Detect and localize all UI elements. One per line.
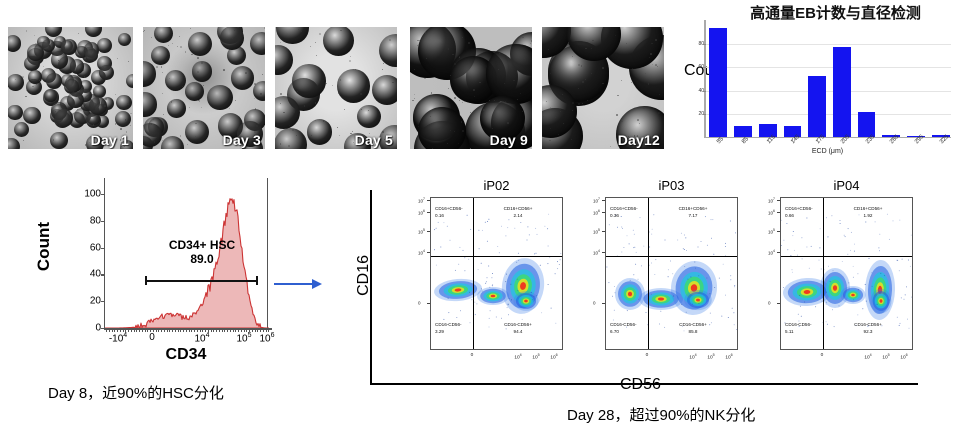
nk-event-dot [879,234,880,235]
nk-event-dot [537,234,538,235]
histogram-minor-tick [158,329,159,332]
nk-event-dot [487,221,488,222]
nk-flow-plot: CD16+CD56-0.36CD16+CD56+7.17CD16-CD56-6.… [605,197,738,350]
histogram-minor-tick [219,329,220,332]
microscopy-speck [655,39,657,41]
histogram-minor-tick [106,329,107,332]
microscopy-spheroid [126,74,133,88]
nk-y-tick-mark [777,200,780,201]
histogram-minor-tick [260,329,261,332]
nk-event-dot [734,285,735,286]
histogram-y-tick-label: 40 [90,269,101,280]
nk-event-dot [541,312,542,313]
bar-chart-gridline [706,91,951,92]
nk-event-dot [448,298,449,299]
nk-event-dot [507,307,508,308]
nk-event-dot [633,274,634,275]
microscopy-speck [301,31,302,32]
microscopy-speck [144,30,145,31]
microscopy-spheroid [99,65,114,80]
nk-event-dot [871,272,872,273]
histogram-x-tick-label: 104 [194,332,209,344]
nk-x-tick-label: 104 [864,353,871,361]
microscopy-speck [340,30,342,32]
nk-quadrant-bottom-left: CD16-CD56-6.70 [610,322,637,335]
microscopy-speck [499,53,500,54]
microscopy-speck [643,107,645,109]
nk-event-dot [714,287,715,288]
microscopy-speck [254,98,255,99]
microscopy-speck [168,45,169,46]
nk-y-tick-mark [602,231,605,232]
histogram-minor-tick [238,329,239,332]
nk-y-tick-label: 0 [768,301,771,306]
nk-panel-title: iP02 [430,178,563,193]
microscopy-speck [587,100,588,101]
bar-chart-gridline [706,44,951,45]
nk-event-dot [606,267,607,268]
microscopy-speck [383,63,384,64]
nk-event-dot [699,301,700,302]
nk-event-dot [840,220,841,221]
nk-event-dot [851,232,852,233]
nk-event-dot [491,277,492,278]
nk-event-dot [865,222,866,223]
nk-event-dot [455,270,456,271]
microscopy-spheroid [151,46,170,65]
nk-event-dot [447,226,448,227]
nk-event-dot [507,227,508,228]
nk-y-tick-mark [427,231,430,232]
microscopy-speck [30,91,32,93]
nk-event-dot [629,243,630,244]
bar-chart-gridline [706,114,951,115]
microscopy-day-label: Day 3 [223,132,261,148]
nk-event-dot [555,273,556,274]
nk-quadrant-value: 0.36 [610,213,638,220]
nk-event-dot [815,306,816,307]
histogram-y-tick-label: 80 [90,215,101,226]
nk-event-dot [730,275,731,276]
nk-event-dot [713,254,714,255]
nk-event-dot [534,296,535,297]
histogram-minor-tick [255,329,256,332]
nk-event-dot [681,304,682,305]
nk-y-tick-mark [427,303,430,304]
nk-event-dot [840,223,841,224]
microscopy-speck [264,27,265,29]
nk-event-dot [911,297,912,298]
microscopy-spheroid [115,111,132,128]
nk-y-tick-label: 104 [768,249,775,256]
nk-event-dot [728,317,729,318]
microscopy-spheroid [250,32,265,55]
microscopy-speck [201,107,203,109]
microscopy-speck [339,135,340,136]
bar-chart-x-tick-mark [817,138,818,141]
nk-event-dot [487,277,488,278]
nk-event-dot [634,234,635,235]
nk-event-dot [468,259,469,260]
microscopy-panel: Day12 [542,27,664,149]
nk-event-dot [547,228,548,229]
nk-event-dot [734,286,735,287]
microscopy-speck [197,71,199,73]
nk-event-dot [518,260,519,261]
nk-event-dot [819,247,820,248]
nk-event-dot [710,313,711,314]
microscopy-speck [631,82,632,83]
nk-quadrant-label: CD16-CD56- [435,322,462,329]
nk-quadrant-value: 5.11 [785,329,812,336]
nk-event-dot [460,289,461,290]
histogram-minor-tick [150,329,151,332]
bar-chart-x-tick-mark [867,138,868,141]
microscopy-speck [531,40,532,42]
microscopy-speck [659,94,660,95]
microscopy-speck [229,108,231,110]
microscopy-speck [332,85,333,86]
microscopy-speck [172,34,173,35]
histogram-gate-cap-left [145,276,147,285]
nk-quadrant-value: 1.92 [825,213,911,220]
nk-event-dot [684,266,685,267]
nk-event-dot [621,252,622,253]
nk-x-tick-label: 104 [689,353,696,361]
nk-event-dot [443,319,444,320]
nk-event-dot [723,264,724,265]
microscopy-speck [468,42,469,43]
microscopy-speck [548,49,549,50]
microscopy-speck [115,94,116,95]
microscopy-speck [562,94,563,95]
microscopy-speck [459,57,460,58]
histogram-minor-tick [227,329,228,332]
microscopy-panel: Day 9 [410,27,532,149]
nk-y-tick-mark [602,303,605,304]
nk-quadrant-top-left: CD16+CD56-0.16 [435,206,463,219]
nk-event-dot [654,274,655,275]
nk-event-dot [908,260,909,261]
histogram-y-tick-mark [101,221,105,222]
nk-event-dot [436,228,437,229]
microscopy-spheroid [185,82,204,101]
nk-event-dot [499,252,500,253]
microscopy-speck [454,131,455,132]
nk-event-dot [640,217,641,218]
nk-event-dot [633,247,634,248]
microscopy-spheroid [85,27,102,37]
microscopy-speck [190,28,191,29]
nk-event-dot [781,245,782,246]
histogram-minor-tick [202,329,203,332]
microscopy-speck [546,101,547,102]
nk-x-tick-label: 106 [550,353,557,361]
microscopy-panel: Day 3 [143,27,265,149]
microscopy-speck [412,100,414,102]
nk-y-axis-label: CD16 [355,255,373,296]
nk-quadrant-value: 7.17 [650,213,736,220]
histogram-x-axis-label: CD34 [104,346,268,364]
nk-event-dot [621,227,622,228]
histogram-minor-tick [200,329,201,332]
microscopy-spheroid [97,38,112,53]
histogram-gate-cap-right [256,276,258,285]
histogram-minor-tick [230,329,231,332]
microscopy-day-label: Day 9 [490,132,528,148]
microscopy-speck [448,88,449,89]
microscopy-day-label: Day12 [618,132,660,148]
nk-quadrant-label: CD16+CD56- [785,206,813,213]
nk-event-dot [481,263,482,264]
nk-event-dot [725,295,726,296]
microscopy-speck [26,30,27,31]
nk-event-dot [655,259,656,260]
histogram-minor-tick [249,329,250,332]
nk-event-dot [889,239,890,240]
histogram-minor-tick [186,329,187,332]
nk-event-dot [614,310,615,311]
nk-event-dot [508,304,509,305]
microscopy-speck [419,40,420,41]
microscopy-speck [52,80,53,81]
microscopy-speck [127,103,129,105]
nk-event-dot [463,250,464,251]
histogram-minor-tick [191,329,192,332]
microscopy-speck [254,83,256,85]
microscopy-speck [448,48,449,49]
nk-event-dot [854,251,855,252]
microscopy-speck [73,107,74,108]
nk-event-dot [897,317,898,318]
nk-event-dot [478,269,479,270]
nk-event-dot [438,222,439,223]
nk-event-dot [505,281,506,282]
microscopy-spheroid [23,107,41,125]
histogram-minor-tick [216,329,217,332]
histogram-minor-tick [197,329,198,332]
microscopy-day-label: Day 5 [355,132,393,148]
microscopy-speck [256,125,258,127]
microscopy-speck [585,79,586,80]
microscopy-speck [180,135,181,136]
nk-event-dot [692,304,693,305]
bar-chart-bar [709,28,727,137]
bar-chart-bar [734,126,752,137]
microscopy-speck [560,111,561,112]
nk-density-contour [524,300,528,303]
histogram-minor-tick [235,329,236,332]
microscopy-speck [189,107,190,108]
histogram-x-tick-label: 0 [149,332,155,343]
nk-event-dot [609,224,610,225]
microscopy-speck [489,100,490,101]
microscopy-speck [197,57,199,59]
histogram-minor-tick [266,329,267,332]
nk-quadrant-value: 0.66 [785,213,813,220]
histogram-gate-value: 89.0 [148,252,256,266]
microscopy-speck [507,103,508,104]
microscopy-field [275,27,397,149]
nk-event-dot [486,281,487,282]
nk-y-tick-mark [427,252,430,253]
bar-chart-x-tick-mark [743,138,744,141]
microscopy-speck [616,114,618,116]
microscopy-speck [128,61,129,62]
microscopy-spheroid [116,95,132,111]
microscopy-speck [626,43,627,44]
nk-event-dot [802,258,803,259]
microscopy-spheroid [143,92,157,116]
microscopy-speck [462,130,464,132]
microscopy-speck [177,46,178,47]
nk-event-dot [665,240,666,241]
microscopy-speck [260,93,261,94]
blue-arrow-icon [274,276,322,292]
nk-event-dot [844,235,845,236]
nk-event-dot [804,302,805,303]
nk-event-dot [698,247,699,248]
microscopy-speck [34,35,35,36]
microscopy-speck [162,72,163,73]
microscopy-speck [201,62,202,63]
nk-x-tick-label: 0 [821,353,824,358]
bar-chart-x-axis-label: ECD (μm) [704,148,951,155]
histogram-y-tick-mark [101,301,105,302]
nk-event-dot [514,228,515,229]
nk-event-dot [613,320,614,321]
nk-event-dot [853,277,854,278]
nk-event-dot [684,235,685,236]
histogram-minor-tick [128,329,129,332]
nk-event-dot [672,273,673,274]
nk-event-dot [506,274,507,275]
nk-event-dot [536,295,537,296]
nk-event-dot [721,316,722,317]
nk-event-dot [793,231,794,232]
nk-density-contour [658,297,664,300]
nk-event-dot [509,298,510,299]
histogram-minor-tick [169,329,170,332]
microscopy-speck [182,86,183,87]
nk-event-dot [516,262,517,263]
microscopy-field [143,27,265,149]
microscopy-speck [417,45,418,46]
nk-y-tick-label: 106 [593,209,600,216]
nk-event-dot [901,297,902,298]
nk-event-dot [827,237,828,238]
histogram-minor-tick [178,329,179,332]
nk-event-dot [854,244,855,245]
nk-event-dot [857,273,858,274]
microscopy-speck [223,69,225,71]
nk-event-dot [878,247,879,248]
histogram-minor-tick [136,329,137,332]
microscopy-spheroid [8,35,21,52]
bar-chart-x-tick-mark [768,138,769,141]
microscopy-spheroid [143,61,156,86]
histogram-minor-tick [167,329,168,332]
nk-event-dot [899,270,900,271]
microscopy-speck [292,129,294,131]
microscopy-speck [610,146,611,147]
nk-event-dot [794,250,795,251]
nk-event-dot [826,292,827,293]
microscopy-day-label: Day 1 [91,132,129,148]
nk-quadrant-bottom-right: CD16-CD56+94.4 [475,322,561,335]
nk-event-dot [557,261,558,262]
microscopy-speck [591,73,592,74]
microscopy-speck [355,69,356,70]
microscopy-speck [280,143,281,144]
nk-event-dot [459,247,460,248]
nk-x-tick-label: 0 [646,353,649,358]
microscopy-speck [93,124,94,125]
nk-event-dot [845,236,846,237]
nk-event-dot [488,266,489,267]
nk-event-dot [799,295,800,296]
microscopy-speck [280,93,282,95]
nk-event-dot [630,280,631,281]
nk-event-dot [548,284,549,285]
nk-event-dot [685,237,686,238]
histogram-minor-tick [131,329,132,332]
microscopy-speck [414,94,415,95]
nk-event-dot [730,221,731,222]
nk-event-dot [681,233,682,234]
microscopy-speck [424,78,426,80]
microscopy-speck [459,100,460,101]
microscopy-spheroid [307,119,333,145]
microscopy-speck [203,85,204,86]
microscopy-spheroid [275,128,307,149]
nk-event-dot [517,279,518,280]
nk-event-dot [501,226,502,227]
microscopy-speck [163,114,164,115]
cd34-histogram: Count 100806040200 CD34 CD34+ HSC 89.0 -… [28,170,328,370]
nk-event-dot [904,299,905,300]
nk-event-dot [559,264,560,265]
bar-chart-x-tick-mark [941,138,942,141]
nk-event-dot [781,220,782,221]
microscopy-speck [172,43,173,44]
nk-event-dot [711,238,712,239]
nk-event-dot [690,277,691,278]
nk-event-dot [828,266,829,267]
nk-event-dot [487,241,488,242]
microscopy-speck [563,123,564,124]
nk-event-dot [614,286,615,287]
nk-y-tick-label: 106 [768,209,775,216]
microscopy-panel: Day 5 [275,27,397,149]
histogram-minor-tick [109,329,110,332]
microscopy-speck [131,85,132,86]
bar-chart-x-tick-mark [718,138,719,141]
microscopy-speck [389,39,391,41]
nk-event-dot [686,250,687,251]
nk-event-dot [875,221,876,222]
nk-event-dot [733,312,734,313]
nk-quadrant-value: 3.29 [435,329,462,336]
nk-density-contour [851,294,855,297]
nk-event-dot [668,276,669,277]
nk-event-dot [434,229,435,230]
microscopy-speck [156,66,158,68]
nk-event-dot [833,270,834,271]
microscopy-speck [43,66,44,67]
nk-quadrant-label: CD16-CD56+ [475,322,561,329]
nk-quadrant-label: CD16-CD56- [610,322,637,329]
